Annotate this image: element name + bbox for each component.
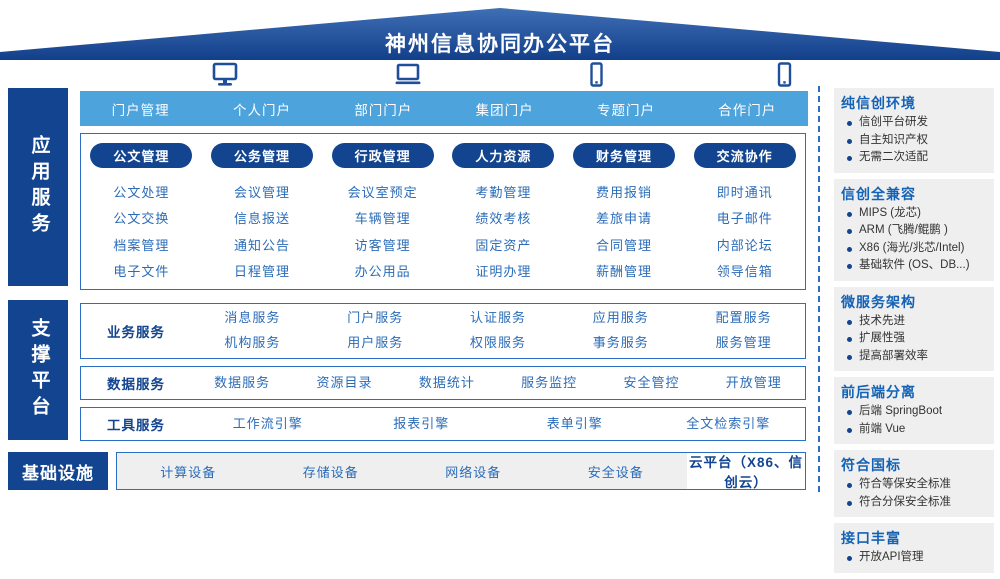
portal-item-4[interactable]: 专题门户 [565, 99, 686, 119]
sidebar-bullet-text-1-0: MIPS (龙芯) [859, 206, 921, 222]
sidebar-bullet-row-5-0: 开放API管理 [841, 550, 987, 566]
application-item-0-3[interactable]: 电子文件 [113, 261, 169, 280]
sidebar-bullet-row-1-2: X86 (海光/兆芯/Intel) [841, 241, 987, 257]
application-item-1-2[interactable]: 通知公告 [234, 235, 290, 254]
bullet-dot-icon [847, 247, 852, 252]
portal-bar: 门户管理个人门户部门门户集团门户专题门户合作门户 [80, 91, 808, 126]
business-service-item-1-2[interactable]: 权限服务 [437, 331, 560, 356]
data-service-item-2[interactable]: 数据统计 [396, 371, 498, 396]
sidebar-bullet-row-1-3: 基础软件 (OS、DB...) [841, 258, 987, 274]
application-item-3-1[interactable]: 绩效考核 [475, 208, 531, 227]
application-item-5-3[interactable]: 领导信箱 [717, 261, 773, 280]
application-item-0-0[interactable]: 公文处理 [113, 182, 169, 201]
tool-service-item-0[interactable]: 工作流引擎 [191, 412, 345, 437]
data-service-item-3[interactable]: 服务监控 [498, 371, 600, 396]
bullet-dot-icon [847, 156, 852, 161]
application-column-3: 人力资源考勤管理绩效考核固定资产证明办理 [443, 134, 564, 289]
sidebar-bullet-row-1-1: ARM (飞腾/鲲鹏 ) [841, 223, 987, 239]
bullet-dot-icon [847, 483, 852, 488]
application-item-4-2[interactable]: 合同管理 [596, 235, 652, 254]
rail-infrastructure: 基础设施 [8, 452, 108, 490]
tool-service-label: 工具服务 [81, 414, 191, 434]
sidebar-panel-title-1: 信创全兼容 [841, 184, 987, 204]
sidebar-panel-2: 微服务架构技术先进扩展性强提高部署效率 [834, 287, 994, 372]
infrastructure-panel: 计算设备存储设备网络设备安全设备 云平台（X86、信创云） [116, 452, 806, 490]
application-item-4-0[interactable]: 费用报销 [596, 182, 652, 201]
business-service-row: 业务服务 消息服务门户服务认证服务应用服务配置服务机构服务用户服务权限服务事务服… [80, 303, 806, 359]
tool-service-item-1[interactable]: 报表引擎 [345, 412, 499, 437]
business-service-item-0-0[interactable]: 消息服务 [191, 306, 314, 331]
business-service-item-1-3[interactable]: 事务服务 [559, 331, 682, 356]
bullet-dot-icon [847, 264, 852, 269]
application-services-panel: 公文管理公文处理公文交换档案管理电子文件公务管理会议管理信息报送通知公告日程管理… [80, 133, 806, 290]
category-pill-3[interactable]: 人力资源 [452, 143, 554, 168]
business-service-line-0: 消息服务门户服务认证服务应用服务配置服务 [191, 306, 805, 331]
sidebar-bullet-text-1-1: ARM (飞腾/鲲鹏 ) [859, 223, 948, 239]
application-item-0-1[interactable]: 公文交换 [113, 208, 169, 227]
application-item-3-2[interactable]: 固定资产 [475, 235, 531, 254]
category-pill-5[interactable]: 交流协作 [694, 143, 796, 168]
device-icon-row [80, 62, 808, 90]
sidebar-bullet-text-2-1: 扩展性强 [859, 331, 905, 347]
portal-item-1[interactable]: 个人门户 [201, 99, 322, 119]
cloud-platform-label: 云平台（X86、信创云） [687, 451, 805, 491]
sidebar-panel-title-4: 符合国标 [841, 455, 987, 475]
section-divider [818, 86, 820, 492]
application-column-0: 公文管理公文处理公文交换档案管理电子文件 [81, 134, 202, 289]
business-service-item-0-4[interactable]: 配置服务 [682, 306, 805, 331]
sidebar-bullet-row-3-1: 前端 Vue [841, 422, 987, 438]
infrastructure-item-2[interactable]: 网络设备 [402, 462, 545, 481]
bullet-dot-icon [847, 212, 852, 217]
sidebar-bullet-text-3-1: 前端 Vue [859, 422, 905, 438]
tool-service-row: 工具服务 工作流引擎报表引擎表单引擎全文检索引擎 [80, 407, 806, 441]
portal-item-0[interactable]: 门户管理 [80, 99, 201, 119]
business-service-label: 业务服务 [81, 321, 191, 341]
sidebar-panel-0: 纯信创环境信创平台研发自主知识产权无需二次适配 [834, 88, 994, 173]
application-item-2-3[interactable]: 办公用品 [355, 261, 411, 280]
application-item-5-1[interactable]: 电子邮件 [717, 208, 773, 227]
data-service-label: 数据服务 [81, 373, 191, 393]
sidebar-bullet-row-4-0: 符合等保安全标准 [841, 477, 987, 493]
sidebar-panel-title-3: 前后端分离 [841, 382, 987, 402]
application-column-5: 交流协作即时通讯电子邮件内部论坛领导信箱 [684, 134, 805, 289]
business-service-item-0-1[interactable]: 门户服务 [314, 306, 437, 331]
sidebar-bullet-text-5-0: 开放API管理 [859, 550, 924, 566]
infrastructure-item-1[interactable]: 存储设备 [260, 462, 403, 481]
tablet-icon [771, 62, 797, 93]
sidebar-bullet-text-1-3: 基础软件 (OS、DB...) [859, 258, 970, 274]
application-item-3-0[interactable]: 考勤管理 [475, 182, 531, 201]
sidebar-bullet-row-0-1: 自主知识产权 [841, 133, 987, 149]
application-column-1: 公务管理会议管理信息报送通知公告日程管理 [202, 134, 323, 289]
application-item-3-3[interactable]: 证明办理 [475, 261, 531, 280]
title-banner: 神州信息协同办公平台 [0, 6, 1000, 60]
category-pill-0[interactable]: 公文管理 [90, 143, 192, 168]
bullet-dot-icon [847, 139, 852, 144]
rail-infrastructure-label: 基础设施 [22, 459, 94, 484]
desktop-monitor-icon [212, 62, 238, 93]
sidebar-bullet-text-0-0: 信创平台研发 [859, 115, 928, 131]
phone-icon [583, 62, 609, 93]
application-item-5-2[interactable]: 内部论坛 [717, 235, 773, 254]
business-service-item-1-4[interactable]: 服务管理 [682, 331, 805, 356]
sidebar-panel-3: 前后端分离后端 SpringBoot前端 Vue [834, 377, 994, 444]
data-service-item-5[interactable]: 开放管理 [703, 371, 805, 396]
tool-service-item-2[interactable]: 表单引擎 [498, 412, 652, 437]
application-item-2-0[interactable]: 会议室预定 [348, 182, 418, 201]
category-pill-4[interactable]: 财务管理 [573, 143, 675, 168]
bullet-dot-icon [847, 337, 852, 342]
sidebar-panel-title-0: 纯信创环境 [841, 93, 987, 113]
application-item-1-0[interactable]: 会议管理 [234, 182, 290, 201]
infrastructure-item-0[interactable]: 计算设备 [117, 462, 260, 481]
business-service-item-1-1[interactable]: 用户服务 [314, 331, 437, 356]
business-service-item-1-0[interactable]: 机构服务 [191, 331, 314, 356]
sidebar-panel-title-5: 接口丰富 [841, 528, 987, 548]
data-service-item-4[interactable]: 安全管控 [600, 371, 702, 396]
application-item-2-1[interactable]: 车辆管理 [355, 208, 411, 227]
portal-item-5[interactable]: 合作门户 [687, 99, 808, 119]
business-service-item-0-2[interactable]: 认证服务 [437, 306, 560, 331]
sidebar-bullet-text-3-0: 后端 SpringBoot [859, 404, 942, 420]
sidebar-bullet-text-4-1: 符合分保安全标准 [859, 495, 951, 511]
sidebar-bullet-row-4-1: 符合分保安全标准 [841, 495, 987, 511]
application-column-4: 财务管理费用报销差旅申请合同管理薪酬管理 [564, 134, 685, 289]
data-service-item-1[interactable]: 资源目录 [293, 371, 395, 396]
sidebar-bullet-row-1-0: MIPS (龙芯) [841, 206, 987, 222]
bullet-dot-icon [847, 355, 852, 360]
bullet-dot-icon [847, 501, 852, 506]
rail-application-services-label: 应用服务 [28, 135, 49, 239]
sidebar-bullet-row-2-2: 提高部署效率 [841, 349, 987, 365]
sidebar-bullet-text-2-2: 提高部署效率 [859, 349, 928, 365]
sidebar-bullet-text-4-0: 符合等保安全标准 [859, 477, 951, 493]
sidebar-bullet-row-0-2: 无需二次适配 [841, 150, 987, 166]
sidebar-bullet-text-2-0: 技术先进 [859, 314, 905, 330]
sidebar-bullet-row-3-0: 后端 SpringBoot [841, 404, 987, 420]
sidebar-bullet-text-0-2: 无需二次适配 [859, 150, 928, 166]
application-item-5-0[interactable]: 即时通讯 [717, 182, 773, 201]
application-item-4-1[interactable]: 差旅申请 [596, 208, 652, 227]
sidebar-panel-1: 信创全兼容MIPS (龙芯)ARM (飞腾/鲲鹏 )X86 (海光/兆芯/Int… [834, 179, 994, 281]
application-item-1-3[interactable]: 日程管理 [234, 261, 290, 280]
architecture-diagram: 神州信息协同办公平台 应用服务 支撑平台 基础设施 [0, 0, 1000, 500]
rail-support-platform: 支撑平台 [8, 300, 68, 440]
sidebar-panel-4: 符合国标符合等保安全标准符合分保安全标准 [834, 450, 994, 517]
sidebar-bullet-text-0-1: 自主知识产权 [859, 133, 928, 149]
business-service-line-1: 机构服务用户服务权限服务事务服务服务管理 [191, 331, 805, 356]
feature-sidebar: 纯信创环境信创平台研发自主知识产权无需二次适配信创全兼容MIPS (龙芯)ARM… [834, 88, 994, 579]
data-service-item-0[interactable]: 数据服务 [191, 371, 293, 396]
sidebar-panel-title-2: 微服务架构 [841, 292, 987, 312]
sidebar-bullet-row-0-0: 信创平台研发 [841, 115, 987, 131]
sidebar-panel-5: 接口丰富开放API管理 [834, 523, 994, 573]
application-item-4-3[interactable]: 薪酬管理 [596, 261, 652, 280]
bullet-dot-icon [847, 320, 852, 325]
page-title: 神州信息协同办公平台 [0, 28, 1000, 58]
bullet-dot-icon [847, 229, 852, 234]
rail-application-services: 应用服务 [8, 88, 68, 286]
application-column-2: 行政管理会议室预定车辆管理访客管理办公用品 [322, 134, 443, 289]
sidebar-bullet-text-1-2: X86 (海光/兆芯/Intel) [859, 241, 964, 257]
rail-support-platform-label: 支撑平台 [28, 318, 49, 422]
infrastructure-item-3[interactable]: 安全设备 [545, 462, 688, 481]
portal-item-3[interactable]: 集团门户 [444, 99, 565, 119]
application-item-0-2[interactable]: 档案管理 [113, 235, 169, 254]
bullet-dot-icon [847, 121, 852, 126]
bullet-dot-icon [847, 428, 852, 433]
application-item-2-2[interactable]: 访客管理 [355, 235, 411, 254]
sidebar-bullet-row-2-0: 技术先进 [841, 314, 987, 330]
category-pill-1[interactable]: 公务管理 [211, 143, 313, 168]
application-item-1-1[interactable]: 信息报送 [234, 208, 290, 227]
portal-item-2[interactable]: 部门门户 [323, 99, 444, 119]
laptop-icon [395, 62, 421, 93]
tool-service-item-3[interactable]: 全文检索引擎 [652, 412, 806, 437]
category-pill-2[interactable]: 行政管理 [332, 143, 434, 168]
bullet-dot-icon [847, 410, 852, 415]
business-service-item-0-3[interactable]: 应用服务 [559, 306, 682, 331]
data-service-row: 数据服务 数据服务资源目录数据统计服务监控安全管控开放管理 [80, 366, 806, 400]
bullet-dot-icon [847, 556, 852, 561]
sidebar-bullet-row-2-1: 扩展性强 [841, 331, 987, 347]
